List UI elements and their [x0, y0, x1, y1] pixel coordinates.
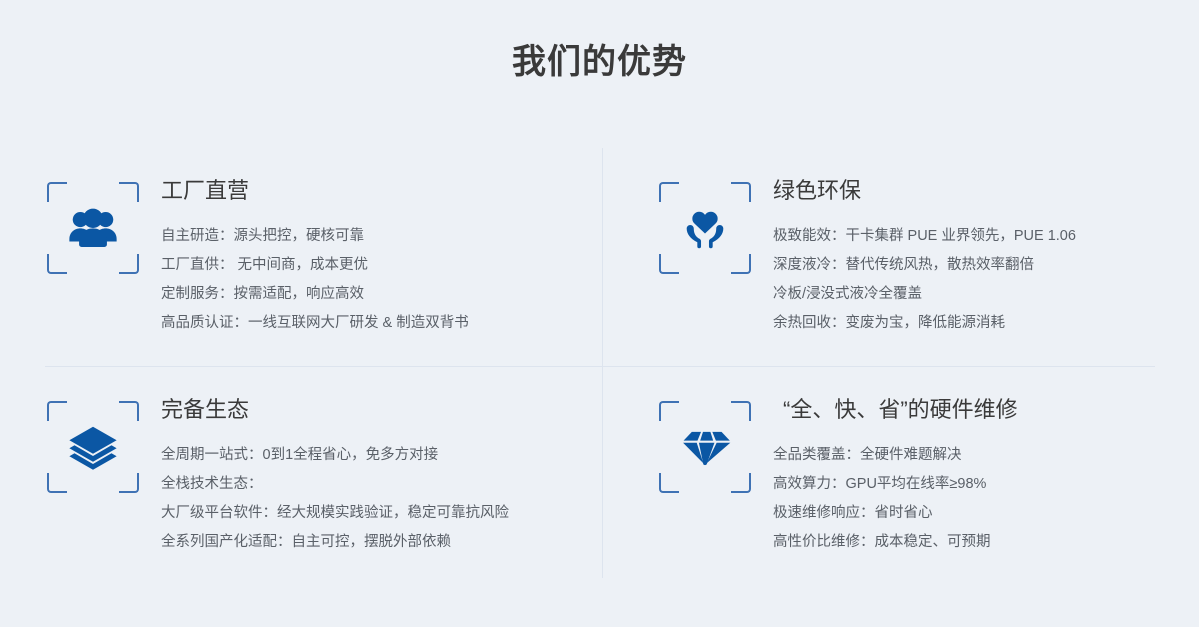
bracket-corner-bottom-left-icon: [47, 254, 67, 274]
advantage-line: 极速维修响应：省时省心: [773, 499, 1145, 528]
bracket-corner-top-left-icon: [47, 182, 67, 202]
advantage-line: 全栈技术生态：: [161, 470, 592, 499]
bracket-corner-bottom-right-icon: [731, 254, 751, 274]
bracket-corner-bottom-right-icon: [731, 473, 751, 493]
bracket-corner-top-right-icon: [119, 401, 139, 421]
advantage-line: 余热回收：变废为宝，降低能源消耗: [773, 309, 1145, 338]
advantage-line: 深度液冷：替代传统风热，散热效率翻倍: [773, 251, 1145, 280]
bracket-corner-top-left-icon: [47, 401, 67, 421]
advantage-line: 极致能效：干卡集群 PUE 业界领先，PUE 1.06: [773, 222, 1145, 251]
advantage-line: 工厂直供： 无中间商，成本更优: [161, 251, 592, 280]
advantage-line: 冷板/浸没式液冷全覆盖: [773, 280, 1145, 309]
advantage-heading: 完备生态: [161, 395, 592, 425]
advantage-line-list: 全品类覆盖：全硬件难题解决 高效算力：GPU平均在线率≥98% 极速维修响应：省…: [773, 441, 1145, 557]
bracket-corner-bottom-right-icon: [119, 473, 139, 493]
icon-frame: [47, 182, 139, 274]
advantage-line: 全系列国产化适配：自主可控，摆脱外部依赖: [161, 528, 592, 557]
advantage-card-factory-direct[interactable]: 工厂直营 自主研造：源头把控，硬核可靠 工厂直供： 无中间商，成本更优 定制服务…: [45, 148, 603, 367]
advantage-heading: 绿色环保: [773, 176, 1145, 206]
advantage-body: “全、快、省”的硬件维修 全品类覆盖：全硬件难题解决 高效算力：GPU平均在线率…: [751, 393, 1145, 557]
bracket-corner-top-right-icon: [119, 182, 139, 202]
bracket-corner-top-right-icon: [731, 401, 751, 421]
advantage-line: 自主研造：源头把控，硬核可靠: [161, 222, 592, 251]
icon-frame: [659, 182, 751, 274]
bracket-corner-bottom-left-icon: [659, 473, 679, 493]
advantage-line-list: 全周期一站式：0到1全程省心，免多方对接 全栈技术生态： 大厂级平台软件：经大规…: [161, 441, 592, 557]
advantage-line: 高性价比维修：成本稳定、可预期: [773, 528, 1145, 557]
diamond-gem-icon: [678, 420, 732, 474]
advantage-line: 全周期一站式：0到1全程省心，免多方对接: [161, 441, 592, 470]
people-group-icon: [66, 201, 120, 255]
page-title: 我们的优势: [0, 40, 1199, 84]
advantage-heading: “全、快、省”的硬件维修: [773, 395, 1145, 425]
advantage-card-complete-ecosystem[interactable]: 完备生态 全周期一站式：0到1全程省心，免多方对接 全栈技术生态： 大厂级平台软…: [45, 367, 603, 578]
advantages-page: 我们的优势: [0, 0, 1199, 627]
advantages-grid: 工厂直营 自主研造：源头把控，硬核可靠 工厂直供： 无中间商，成本更优 定制服务…: [45, 148, 1155, 578]
advantage-line-list: 自主研造：源头把控，硬核可靠 工厂直供： 无中间商，成本更优 定制服务：按需适配…: [161, 222, 592, 338]
advantage-line-list: 极致能效：干卡集群 PUE 业界领先，PUE 1.06 深度液冷：替代传统风热，…: [773, 222, 1145, 338]
bracket-corner-top-right-icon: [731, 182, 751, 202]
bracket-corner-top-left-icon: [659, 401, 679, 421]
advantage-body: 完备生态 全周期一站式：0到1全程省心，免多方对接 全栈技术生态： 大厂级平台软…: [139, 393, 592, 557]
advantage-line: 大厂级平台软件：经大规模实践验证，稳定可靠抗风险: [161, 499, 592, 528]
advantage-line: 全品类覆盖：全硬件难题解决: [773, 441, 1145, 470]
advantage-line: 高品质认证：一线互联网大厂研发 & 制造双背书: [161, 309, 592, 338]
advantage-body: 绿色环保 极致能效：干卡集群 PUE 业界领先，PUE 1.06 深度液冷：替代…: [751, 174, 1145, 338]
advantage-card-green-eco[interactable]: 绿色环保 极致能效：干卡集群 PUE 业界领先，PUE 1.06 深度液冷：替代…: [603, 148, 1155, 367]
advantage-line: 高效算力：GPU平均在线率≥98%: [773, 470, 1145, 499]
icon-frame: [659, 401, 751, 493]
heart-in-hands-icon: [678, 201, 732, 255]
bracket-corner-bottom-left-icon: [47, 473, 67, 493]
bracket-corner-top-left-icon: [659, 182, 679, 202]
advantage-card-hardware-repair[interactable]: “全、快、省”的硬件维修 全品类覆盖：全硬件难题解决 高效算力：GPU平均在线率…: [603, 367, 1155, 578]
layers-stack-icon: [66, 420, 120, 474]
icon-frame: [47, 401, 139, 493]
advantage-heading: 工厂直营: [161, 176, 592, 206]
advantage-body: 工厂直营 自主研造：源头把控，硬核可靠 工厂直供： 无中间商，成本更优 定制服务…: [139, 174, 592, 338]
bracket-corner-bottom-left-icon: [659, 254, 679, 274]
bracket-corner-bottom-right-icon: [119, 254, 139, 274]
advantage-line: 定制服务：按需适配，响应高效: [161, 280, 592, 309]
